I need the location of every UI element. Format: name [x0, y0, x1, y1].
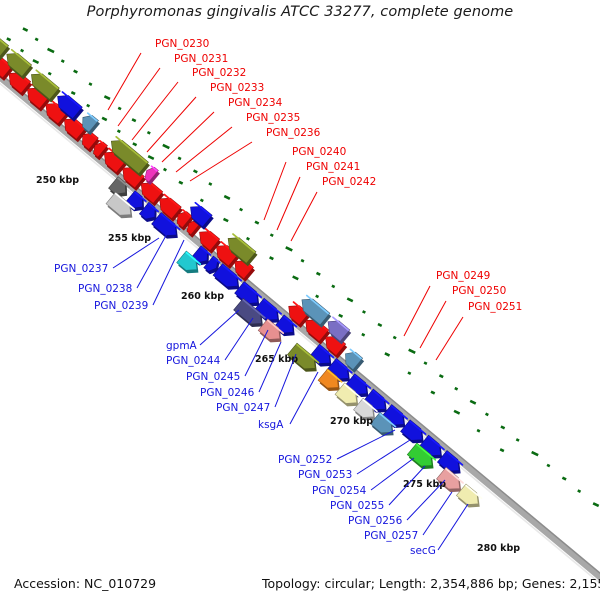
conserved-dash [332, 286, 335, 287]
conserved-dash [532, 452, 538, 455]
conserved-dash [117, 131, 120, 132]
conserved-dash [270, 257, 274, 259]
gene-label-leader [176, 127, 232, 172]
gene-label-leader [438, 504, 468, 550]
gene-label-blue[interactable]: PGN_0247 [216, 402, 270, 414]
conserved-dash [293, 276, 299, 279]
gene-label-red[interactable]: PGN_0242 [322, 176, 376, 188]
conserved-dash [200, 200, 203, 201]
conserved-dash [74, 71, 78, 73]
conserved-dash [102, 118, 107, 120]
gene-label-blue[interactable]: ksgA [258, 419, 284, 431]
gene-label-blue[interactable]: PGN_0257 [364, 530, 418, 542]
conserved-dash [424, 362, 427, 363]
gene-label-blue[interactable]: PGN_0255 [330, 500, 384, 512]
gene-label-red[interactable]: PGN_0236 [266, 127, 321, 139]
gene-label-blue[interactable]: gpmA [166, 340, 198, 352]
gene-label-blue[interactable]: PGN_0253 [298, 469, 352, 481]
gene-label-blue[interactable]: PGN_0256 [348, 515, 403, 527]
conserved-dash [516, 439, 519, 440]
gene-label-leader [118, 68, 160, 126]
gene-label-leader [147, 97, 196, 152]
conserved-dash [501, 426, 505, 428]
conserved-dash [87, 105, 90, 106]
genome-map-viewer: Porphyromonas gingivalis ATCC 33277, com… [0, 0, 600, 600]
gene-label-red[interactable]: PGN_0233 [210, 82, 264, 94]
gene-label-leader [190, 142, 252, 181]
gene-label-leader [404, 286, 430, 336]
gene-label-blue[interactable]: PGN_0252 [278, 454, 332, 466]
gene-label-leader [245, 330, 268, 376]
conserved-dash [164, 169, 167, 170]
conserved-dash [179, 182, 183, 184]
conserved-dash [347, 298, 353, 301]
conserved-dash [247, 238, 250, 239]
conserved-dash [593, 503, 599, 506]
conserved-dash [104, 96, 110, 99]
conserved-dash [48, 49, 54, 52]
conserved-dash [454, 411, 460, 414]
conserved-dash [470, 401, 476, 404]
conserved-dash [71, 92, 75, 94]
conserved-dash [7, 38, 11, 40]
gene-label-red[interactable]: PGN_0249 [436, 270, 490, 282]
gene-label-leader [259, 342, 281, 392]
conserved-dash [385, 353, 390, 355]
conserved-dash [255, 222, 259, 224]
conserved-dash [224, 219, 229, 221]
gene-label-blue[interactable]: secG [410, 545, 436, 557]
conserved-dash [270, 235, 273, 236]
conserved-dash [477, 430, 480, 431]
gene-label-leader [200, 310, 239, 345]
conserved-dash [194, 171, 198, 173]
gene-label-leader [277, 177, 300, 230]
gene-label-leader [162, 112, 214, 162]
conserved-dash [147, 132, 150, 133]
forward-strand-genes [0, 31, 364, 373]
gene-label-leader [436, 317, 463, 360]
gene-label-leader [264, 162, 286, 220]
gene-label-leader [291, 192, 317, 241]
conserved-dash [61, 60, 64, 61]
conserved-dash [224, 196, 230, 199]
genome-map-canvas[interactable]: 250 kbp255 kbp260 kbp265 kbp270 kbp275 k… [0, 0, 600, 600]
conserved-dash [240, 209, 243, 210]
conserved-dash [286, 247, 292, 250]
conserved-dash [500, 449, 504, 451]
gene-label-red[interactable]: PGN_0235 [246, 112, 300, 124]
conserved-dash [23, 28, 28, 30]
conserved-dash [578, 490, 581, 491]
conserved-dash [455, 388, 458, 389]
conserved-dash [316, 296, 319, 297]
gene-label-red[interactable]: PGN_0240 [292, 146, 346, 158]
gene-label-blue[interactable]: PGN_0245 [186, 371, 240, 383]
conserved-dash [486, 414, 489, 415]
conserved-dash [316, 273, 320, 275]
gene-label-red[interactable]: PGN_0234 [228, 97, 283, 109]
conserved-dash [301, 260, 304, 261]
gene-label-red[interactable]: PGN_0230 [155, 38, 209, 50]
gene-label-leader [132, 82, 178, 140]
conserved-dash [163, 145, 169, 148]
scale-tick-label: 275 kbp [403, 479, 446, 490]
gene-label-red[interactable]: PGN_0251 [468, 301, 522, 313]
conserved-dash [409, 350, 415, 353]
conserved-dash [363, 311, 366, 312]
scale-tick-label: 255 kbp [108, 233, 151, 244]
gene-label-blue[interactable]: PGN_0244 [166, 355, 221, 367]
accession-text: Accession: NC_010729 [14, 576, 156, 591]
conserved-dash [118, 108, 121, 109]
gene-label-blue[interactable]: PGN_0238 [78, 283, 132, 295]
conserved-dash [178, 158, 181, 159]
gene-label-blue[interactable]: PGN_0254 [312, 485, 367, 497]
conserved-dash [35, 39, 38, 40]
conserved-dash [89, 83, 92, 84]
scale-tick-labels: 250 kbp255 kbp260 kbp265 kbp270 kbp275 k… [36, 175, 520, 554]
conserved-dash [362, 334, 365, 335]
gene-label-blue[interactable]: PGN_0237 [54, 263, 108, 275]
conserved-dash [133, 143, 137, 145]
conserved-dash [21, 50, 24, 51]
scale-tick-label: 260 kbp [181, 291, 224, 302]
gene-label-blue[interactable]: PGN_0246 [200, 387, 255, 399]
gene-label-red[interactable]: PGN_0232 [192, 67, 246, 79]
scale-tick-label: 250 kbp [36, 175, 79, 186]
gene-label-leader [225, 318, 253, 360]
conserved-dash [547, 465, 550, 466]
gene-label-red[interactable]: PGN_0250 [452, 285, 506, 297]
conserved-dash [408, 372, 411, 373]
conserved-dash [132, 119, 136, 121]
conserved-dash [148, 156, 154, 159]
conserved-dash [431, 392, 435, 394]
conserved-dash [339, 315, 343, 317]
conserved-dash [562, 478, 566, 480]
scale-tick-label: 280 kbp [477, 543, 520, 554]
conserved-dash [209, 183, 212, 184]
conserved-dash [378, 324, 382, 326]
conserved-dash [439, 375, 443, 377]
topology-text: Topology: circular; Length: 2,354,886 bp… [262, 576, 600, 591]
conserved-dash [48, 73, 51, 74]
gene-label-blue[interactable]: PGN_0239 [94, 300, 148, 312]
gene-label-red[interactable]: PGN_0241 [306, 161, 360, 173]
scale-tick-label: 270 kbp [330, 416, 373, 427]
gene-label-red[interactable]: PGN_0231 [174, 53, 228, 65]
gene-label-leader [420, 301, 446, 348]
gene-label-leader [290, 372, 318, 424]
conserved-dash [33, 60, 39, 63]
conserved-dash [393, 337, 396, 338]
